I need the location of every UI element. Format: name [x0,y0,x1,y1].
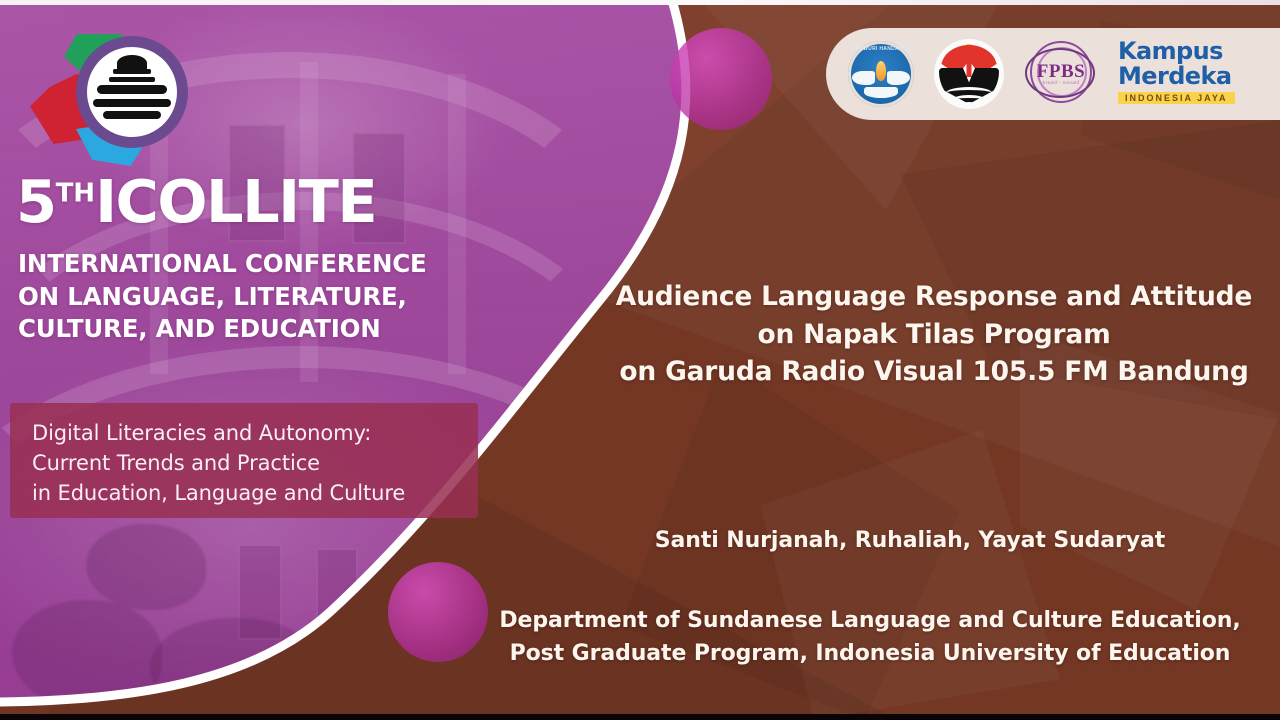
tut-wuri-motto: TUT WURI HANDAYANI [848,46,914,52]
paper-title-line-3: on Garuda Radio Visual 105.5 FM Bandung [600,353,1268,391]
kampus-merdeka-line-2: Merdeka [1118,65,1250,88]
paper-title-line-2: on Napak Tilas Program [600,316,1268,354]
wing-left-icon [852,71,875,85]
affiliation-line-1: Department of Sundanese Language and Cul… [470,604,1270,637]
conference-line-2: ON LANGUAGE, LITERATURE, [18,281,427,314]
paper-title-line-1: Audience Language Response and Attitude [600,278,1268,316]
conference-line-1: INTERNATIONAL CONFERENCE [18,248,427,281]
event-wordmark: 5THICOLLITE [16,172,376,231]
fpbs-tagline: Kreatif - Inovatif [1024,80,1098,85]
fpbs-upi-logo: FPBS UPI [28,26,188,168]
bottom-edge-strip [0,714,1280,720]
upi-building-icon [87,47,177,137]
event-acronym: ICOLLITE [95,167,376,236]
author-list: Santi Nurjanah, Ruhaliah, Yayat Sudaryat [560,528,1260,553]
conference-line-3: CULTURE, AND EDUCATION [18,313,427,346]
book-icon [864,87,898,98]
top-edge-strip [0,0,1280,5]
fpbs-upi-label: FPBS UPI [87,111,177,120]
logo-disc: FPBS UPI [87,47,177,137]
wing-right-icon [887,71,910,85]
theme-line-1: Digital Literacies and Autonomy: [32,419,478,449]
decorative-circle-top [670,28,772,130]
event-ordinal: 5 [16,167,56,236]
conference-name: INTERNATIONAL CONFERENCE ON LANGUAGE, LI… [18,248,427,346]
kampus-merdeka-banner: INDONESIA JAYA [1118,92,1235,104]
kampus-merdeka-logo: Kampus Merdeka INDONESIA JAYA [1118,40,1250,108]
tut-wuri-handayani-logo: TUT WURI HANDAYANI [848,41,914,107]
fpbs-logo: FPBS Kreatif - Inovatif [1024,39,1098,109]
kampus-merdeka-line-1: Kampus [1118,40,1250,63]
paper-title: Audience Language Response and Attitude … [600,278,1268,391]
sponsor-logo-bar: TUT WURI HANDAYANI FPBS Kreatif - Inovat… [826,28,1280,120]
conference-theme-band: Digital Literacies and Autonomy: Current… [10,403,478,518]
theme-line-3: in Education, Language and Culture [32,479,478,509]
upi-stem-shape [967,51,972,77]
upi-logo [934,39,1004,109]
affiliation-line-2: Post Graduate Program, Indonesia Univers… [470,637,1270,670]
event-ordinal-suffix: TH [56,178,96,208]
presentation-slide: FPBS UPI 5THICOLLITE INTERNATIONAL CONFE… [0,0,1280,720]
flame-icon [876,61,886,81]
theme-line-2: Current Trends and Practice [32,449,478,479]
affiliation: Department of Sundanese Language and Cul… [470,604,1270,670]
